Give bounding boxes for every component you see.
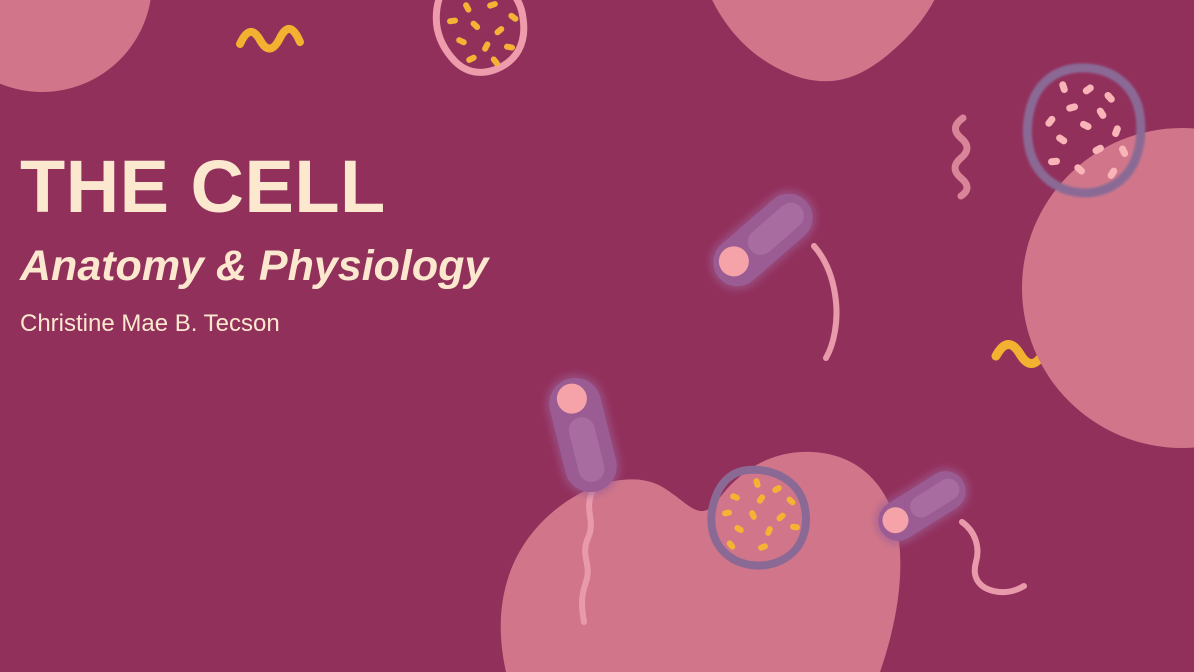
page-title: THE CELL [20, 152, 640, 222]
title-text-block: THE CELL Anatomy & Physiology Christine … [20, 152, 640, 338]
slide-subtitle: Anatomy & Physiology [20, 244, 640, 289]
presentation-slide: THE CELL Anatomy & Physiology Christine … [0, 0, 1194, 672]
author-name: Christine Mae B. Tecson [20, 311, 640, 337]
